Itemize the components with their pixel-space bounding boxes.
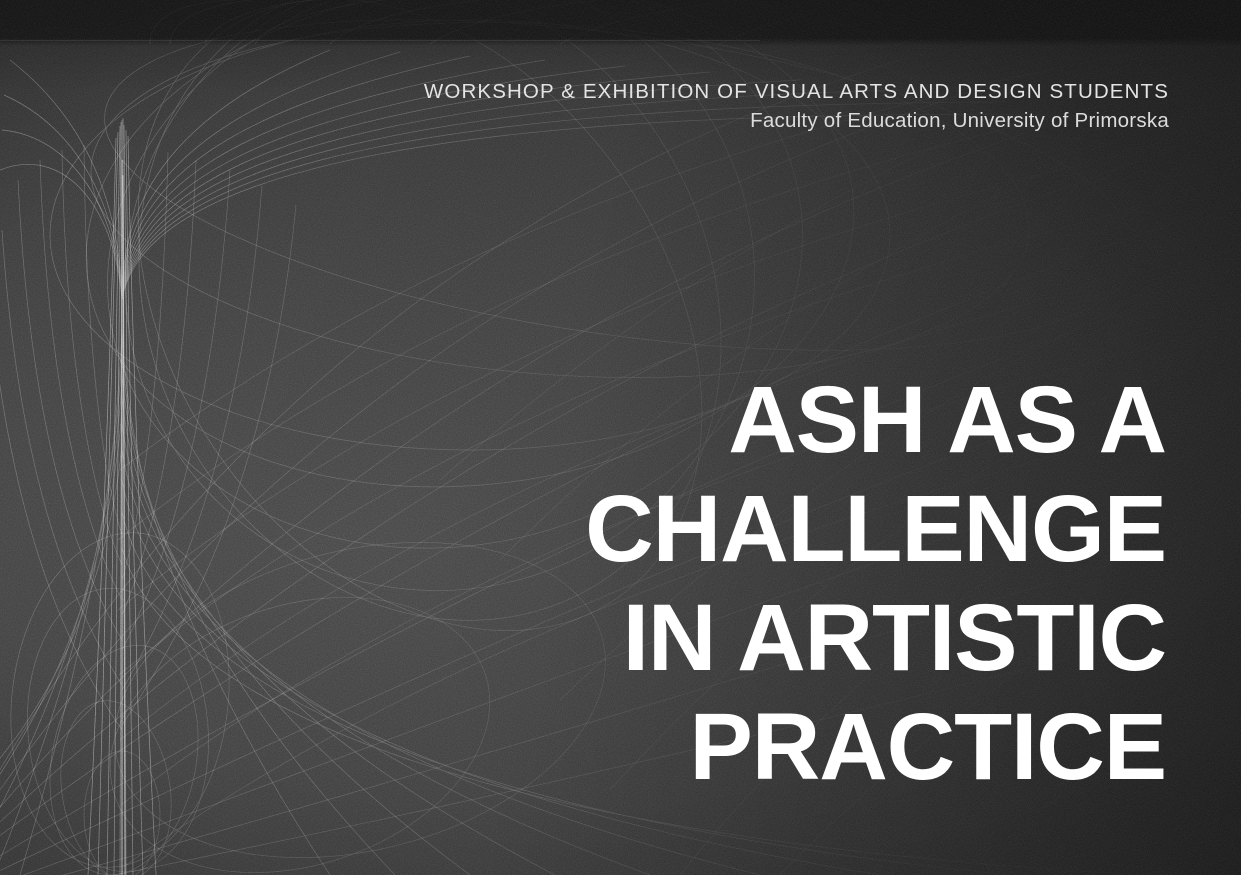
title-line-4: PRACTICE xyxy=(585,693,1166,802)
title-line-2: CHALLENGE xyxy=(585,475,1166,584)
header-line-event: WORKSHOP & EXHIBITION OF VISUAL ARTS AND… xyxy=(424,78,1169,105)
header-line-institution: Faculty of Education, University of Prim… xyxy=(424,107,1169,134)
poster-canvas: WORKSHOP & EXHIBITION OF VISUAL ARTS AND… xyxy=(0,0,1241,875)
poster-header: WORKSHOP & EXHIBITION OF VISUAL ARTS AND… xyxy=(424,78,1169,135)
title-line-3: IN ARTISTIC xyxy=(585,584,1166,693)
title-line-1: ASH AS A xyxy=(585,366,1166,475)
poster-title: ASH AS A CHALLENGE IN ARTISTIC PRACTICE xyxy=(585,366,1166,802)
